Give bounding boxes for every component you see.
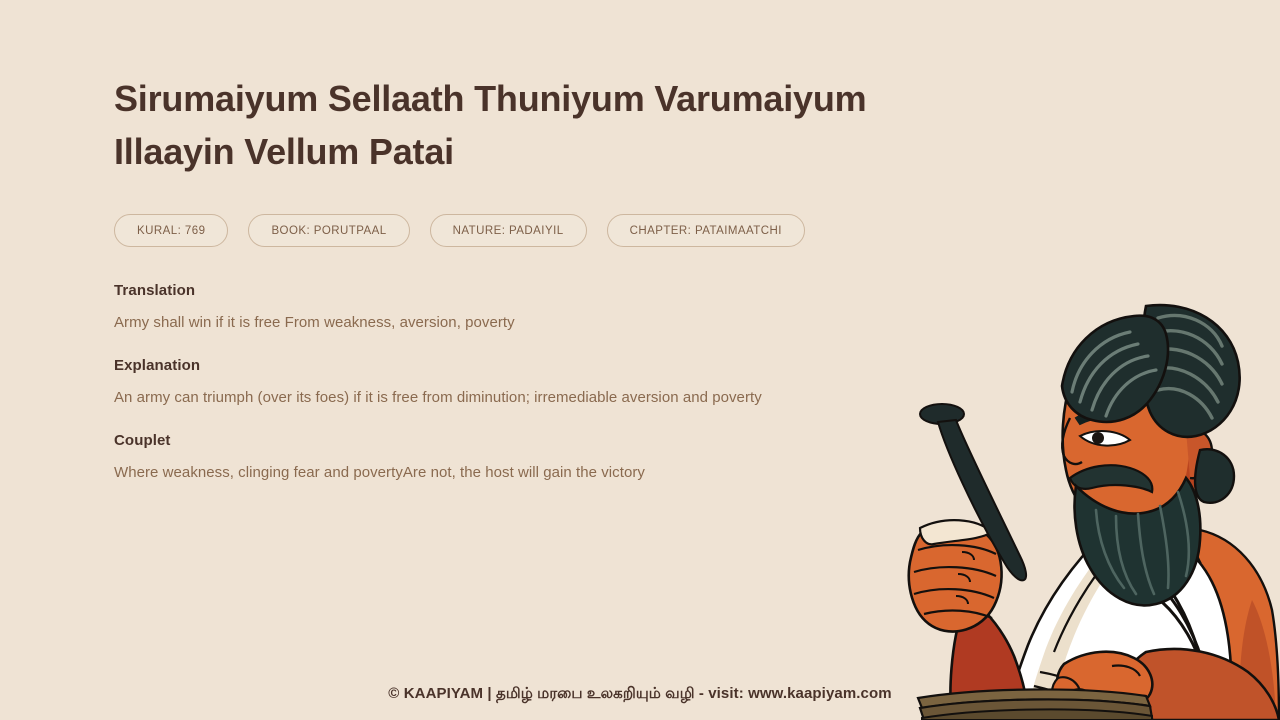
explanation-text: An army can triumph (over its foes) if i… bbox=[114, 388, 904, 408]
face-shadow bbox=[1138, 342, 1204, 510]
section-translation: Translation Army shall win if it is free… bbox=[114, 282, 904, 333]
cloth-fold-line-4 bbox=[1054, 552, 1114, 652]
finger-lines-left bbox=[914, 545, 996, 618]
hair-side-tuft bbox=[1195, 449, 1234, 503]
translation-heading: Translation bbox=[114, 282, 904, 299]
section-couplet: Couplet Where weakness, clinging fear an… bbox=[114, 432, 904, 483]
translation-text: Army shall win if it is free From weakne… bbox=[114, 313, 904, 333]
knuckle-line-right bbox=[1112, 665, 1140, 676]
thiruvalluvar-illustration bbox=[900, 300, 1280, 720]
pupil bbox=[1092, 432, 1104, 444]
hair-bun-strands bbox=[1150, 316, 1222, 418]
explanation-heading: Explanation bbox=[114, 357, 904, 374]
kural-content: Sirumaiyum Sellaath Thuniyum Varumaiyum … bbox=[114, 72, 904, 483]
thumb-left bbox=[920, 520, 992, 544]
face bbox=[1063, 339, 1204, 533]
badge-nature[interactable]: NATURE: PADAIYIL bbox=[430, 214, 587, 247]
page-title: Sirumaiyum Sellaath Thuniyum Varumaiyum … bbox=[114, 72, 894, 178]
hair-bun bbox=[1141, 305, 1240, 437]
footer-credit: © KAAPIYAM | தமிழ் மரபை உலகறியும் வழி - … bbox=[0, 685, 1280, 704]
section-explanation: Explanation An army can triumph (over it… bbox=[114, 357, 904, 408]
metadata-badges: KURAL: 769 BOOK: PORUTPAAL NATURE: PADAI… bbox=[114, 214, 904, 247]
nail-marks-left bbox=[956, 552, 974, 604]
badge-book[interactable]: BOOK: PORUTPAAL bbox=[248, 214, 409, 247]
stylus bbox=[920, 404, 1026, 580]
couplet-heading: Couplet bbox=[114, 432, 904, 449]
eye bbox=[1080, 431, 1130, 446]
hair-front bbox=[1062, 316, 1168, 422]
hair-front-strands bbox=[1072, 332, 1156, 416]
badge-chapter[interactable]: CHAPTER: PATAIMAATCHI bbox=[607, 214, 805, 247]
couplet-text: Where weakness, clinging fear and povert… bbox=[114, 463, 904, 483]
eyebrow bbox=[1076, 410, 1130, 424]
beard-strands bbox=[1096, 492, 1189, 594]
moustache bbox=[1070, 465, 1152, 492]
hand-right bbox=[1057, 652, 1152, 714]
fist-left bbox=[909, 523, 1002, 631]
ear bbox=[1186, 429, 1212, 478]
neck bbox=[1138, 492, 1200, 568]
beard bbox=[1075, 478, 1201, 605]
nose-profile bbox=[1062, 418, 1082, 464]
kural-card: Sirumaiyum Sellaath Thuniyum Varumaiyum … bbox=[0, 0, 1280, 720]
badge-kural[interactable]: KURAL: 769 bbox=[114, 214, 228, 247]
